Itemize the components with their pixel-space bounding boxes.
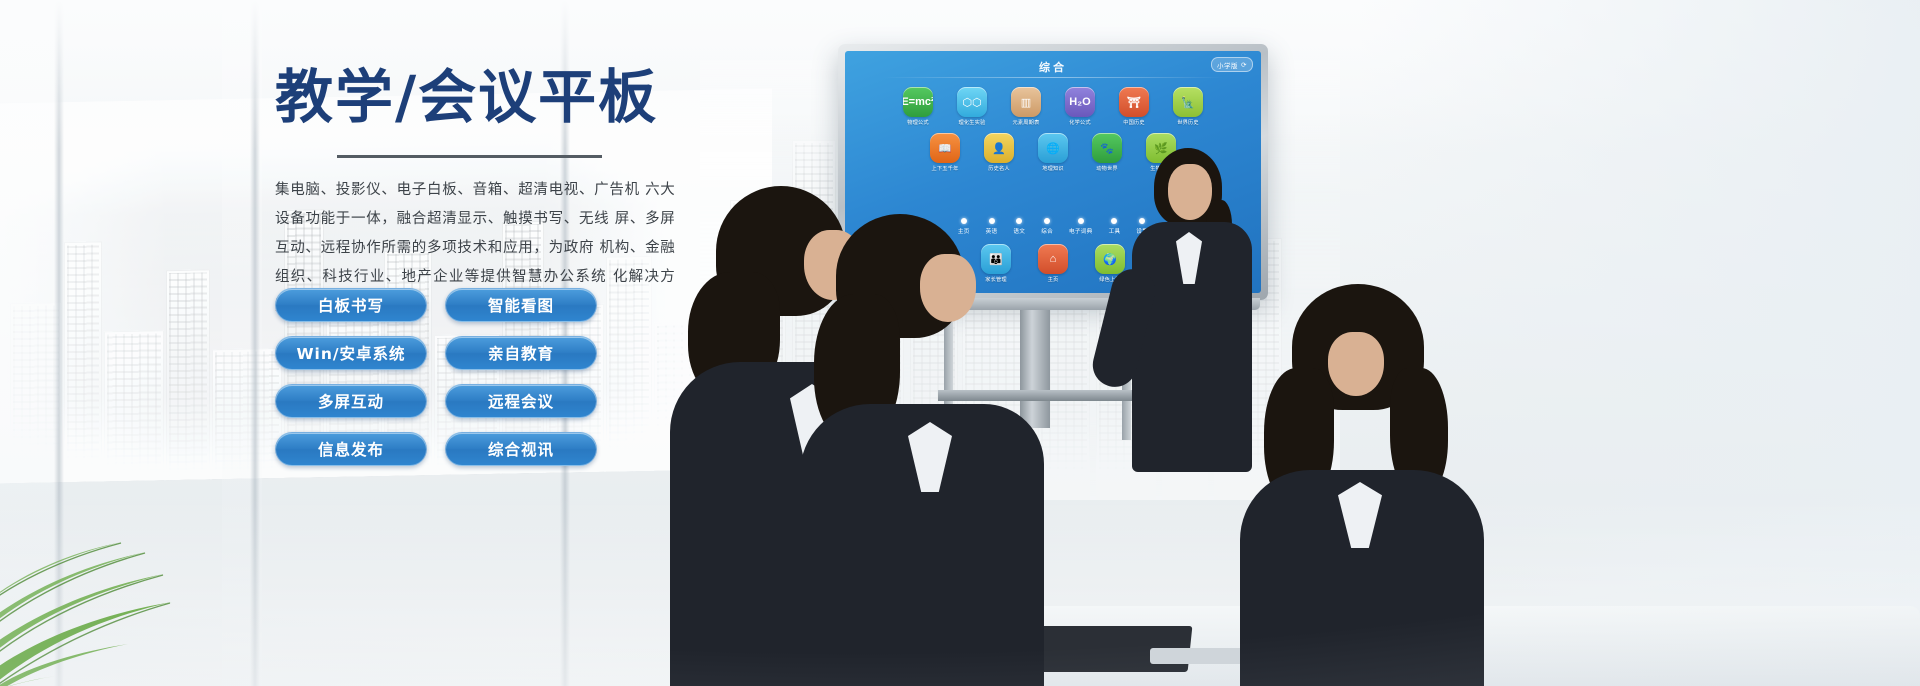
- app-label: 物理公式: [907, 119, 929, 126]
- app-label: 地理知识: [1042, 165, 1064, 172]
- app-five-thousand-years[interactable]: 📖 上下五千年: [925, 133, 965, 172]
- feature-button-remote-meeting[interactable]: 远程会议: [445, 384, 597, 418]
- person-seated-3: [1240, 284, 1490, 686]
- hero-copy: 教学/会议平板 集电脑、投影仪、电子白板、音箱、超清电视、广告机 六大设备功能于…: [275, 66, 695, 321]
- app-historic-figures[interactable]: 👤 历史名人: [979, 133, 1019, 172]
- physics-formula-icon: E=mc²: [903, 87, 933, 117]
- pagoda-icon: ⛩: [1119, 87, 1149, 117]
- book-icon: 📖: [930, 133, 960, 163]
- grade-badge-label: 小学版: [1217, 60, 1238, 70]
- feature-button-info-publish[interactable]: 信息发布: [275, 432, 427, 466]
- app-label: 中国历史: [1123, 119, 1145, 126]
- page-title: 教学/会议平板: [275, 66, 695, 129]
- app-label: 化学公式: [1069, 119, 1091, 126]
- app-label: 历史名人: [988, 165, 1010, 172]
- periodic-table-icon: ▥: [1011, 87, 1041, 117]
- app-periodic-table[interactable]: ▥ 元素周期表: [1006, 87, 1046, 126]
- feature-button-win-android[interactable]: Win/安卓系统: [275, 336, 427, 370]
- person-icon: 👤: [984, 133, 1014, 163]
- app-label: 元素周期表: [1013, 119, 1040, 126]
- dock-item-tools[interactable]: 工具: [1109, 218, 1121, 235]
- grade-badge[interactable]: 小学版 ⟳: [1211, 57, 1253, 72]
- dot-icon: [1078, 218, 1084, 224]
- person-seated-2: [800, 214, 1050, 684]
- app-label: 世界历史: [1177, 119, 1199, 126]
- app-science-lab[interactable]: ⬡⬡ 理化生实验: [952, 87, 992, 126]
- app-label: 理化生实验: [959, 119, 986, 126]
- app-world-history[interactable]: 🗽 世界历史: [1168, 87, 1208, 126]
- paw-icon: 🐾: [1092, 133, 1122, 163]
- dock-label: 工具: [1109, 227, 1121, 235]
- dock-item-dictionary[interactable]: 电子词典: [1069, 218, 1093, 235]
- app-label: 上下五千年: [932, 165, 959, 172]
- banner-stage: 教学/会议平板 集电脑、投影仪、电子白板、音箱、超清电视、广告机 六大设备功能于…: [0, 0, 1920, 686]
- screen-divider: [883, 77, 1223, 78]
- app-physics-formula[interactable]: E=mc² 物理公式: [898, 87, 938, 126]
- chemistry-icon: H₂O: [1065, 87, 1095, 117]
- dot-icon: [1111, 218, 1117, 224]
- feature-button-whiteboard[interactable]: 白板书写: [275, 288, 427, 322]
- feature-button-grid: 白板书写 智能看图 Win/安卓系统 亲自教育 多屏互动 远程会议 信息发布 综…: [275, 288, 597, 466]
- app-chemistry-formula[interactable]: H₂O 化学公式: [1060, 87, 1100, 126]
- app-row-1: E=mc² 物理公式 ⬡⬡ 理化生实验 ▥ 元素周期表 H₂O: [898, 87, 1208, 126]
- dock-label: 电子词典: [1069, 227, 1093, 235]
- screen-title: 综合: [845, 59, 1261, 75]
- app-chinese-history[interactable]: ⛩ 中国历史: [1114, 87, 1154, 126]
- app-geography[interactable]: 🌐 地理知识: [1033, 133, 1073, 172]
- molecule-icon: ⬡⬡: [957, 87, 987, 117]
- feature-button-education[interactable]: 亲自教育: [445, 336, 597, 370]
- globe-icon: 🌐: [1038, 133, 1068, 163]
- refresh-icon: ⟳: [1241, 61, 1247, 69]
- palm-plant: [0, 406, 290, 686]
- statue-icon: 🗽: [1173, 87, 1203, 117]
- feature-button-video-comms[interactable]: 综合视讯: [445, 432, 597, 466]
- feature-button-multiscreen[interactable]: 多屏互动: [275, 384, 427, 418]
- app-label: 动物世界: [1096, 165, 1118, 172]
- person-presenter: [1120, 148, 1260, 568]
- feature-button-smart-view[interactable]: 智能看图: [445, 288, 597, 322]
- title-divider: [337, 155, 602, 158]
